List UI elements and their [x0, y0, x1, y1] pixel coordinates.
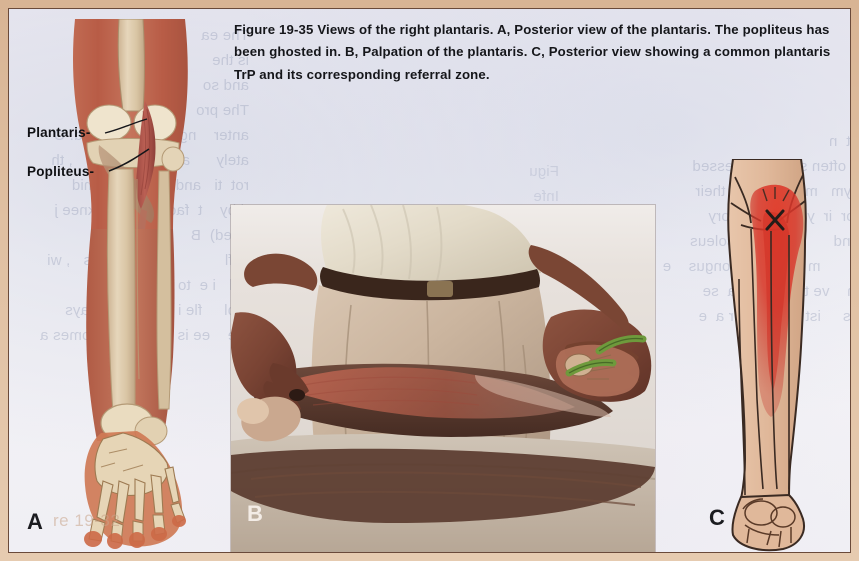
leader-line-plantaris: [105, 119, 147, 133]
panel-a-anatomical-illustration: [31, 19, 231, 552]
panel-b-photograph: [231, 205, 655, 552]
caption-panel-b-marker: B,: [345, 44, 359, 59]
caption-text-3: Palpation of the plantaris.: [359, 44, 532, 59]
figure-caption: Figure 19-35 Views of the right plantari…: [234, 19, 834, 86]
left-hand-thumbnail: [289, 389, 305, 401]
panel-letter-a: A: [27, 509, 43, 535]
fibula: [157, 171, 171, 409]
figure-page: The ea an. is the b and so The pro anter…: [0, 0, 859, 561]
belt-buckle: [427, 281, 453, 297]
figure-number: Figure 19-35: [234, 22, 314, 37]
label-leader-lines: [9, 109, 209, 199]
femur: [118, 19, 144, 111]
tibia: [108, 169, 136, 411]
label-plantaris: Plantaris-: [27, 125, 91, 140]
panel-letter-b: B: [247, 501, 263, 527]
figure-frame: The ea an. is the b and so The pro anter…: [8, 8, 851, 553]
caption-panel-c-marker: C,: [531, 44, 545, 59]
leader-line-popliteus: [109, 149, 149, 171]
panel-b-svg: [231, 205, 655, 552]
ghost-figure-reference: re 19-32: [53, 511, 120, 531]
label-popliteus: Popliteus-: [27, 164, 94, 179]
panel-a-svg: [31, 19, 231, 552]
caption-text-1: Views of the right plantaris.: [314, 22, 497, 37]
panel-c-svg: [685, 159, 845, 553]
panel-letter-c: C: [709, 505, 725, 531]
medial-malleolus: [237, 398, 269, 424]
caption-panel-a-marker: A,: [497, 22, 511, 37]
panel-c-referral-zone-drawing: [685, 159, 845, 553]
